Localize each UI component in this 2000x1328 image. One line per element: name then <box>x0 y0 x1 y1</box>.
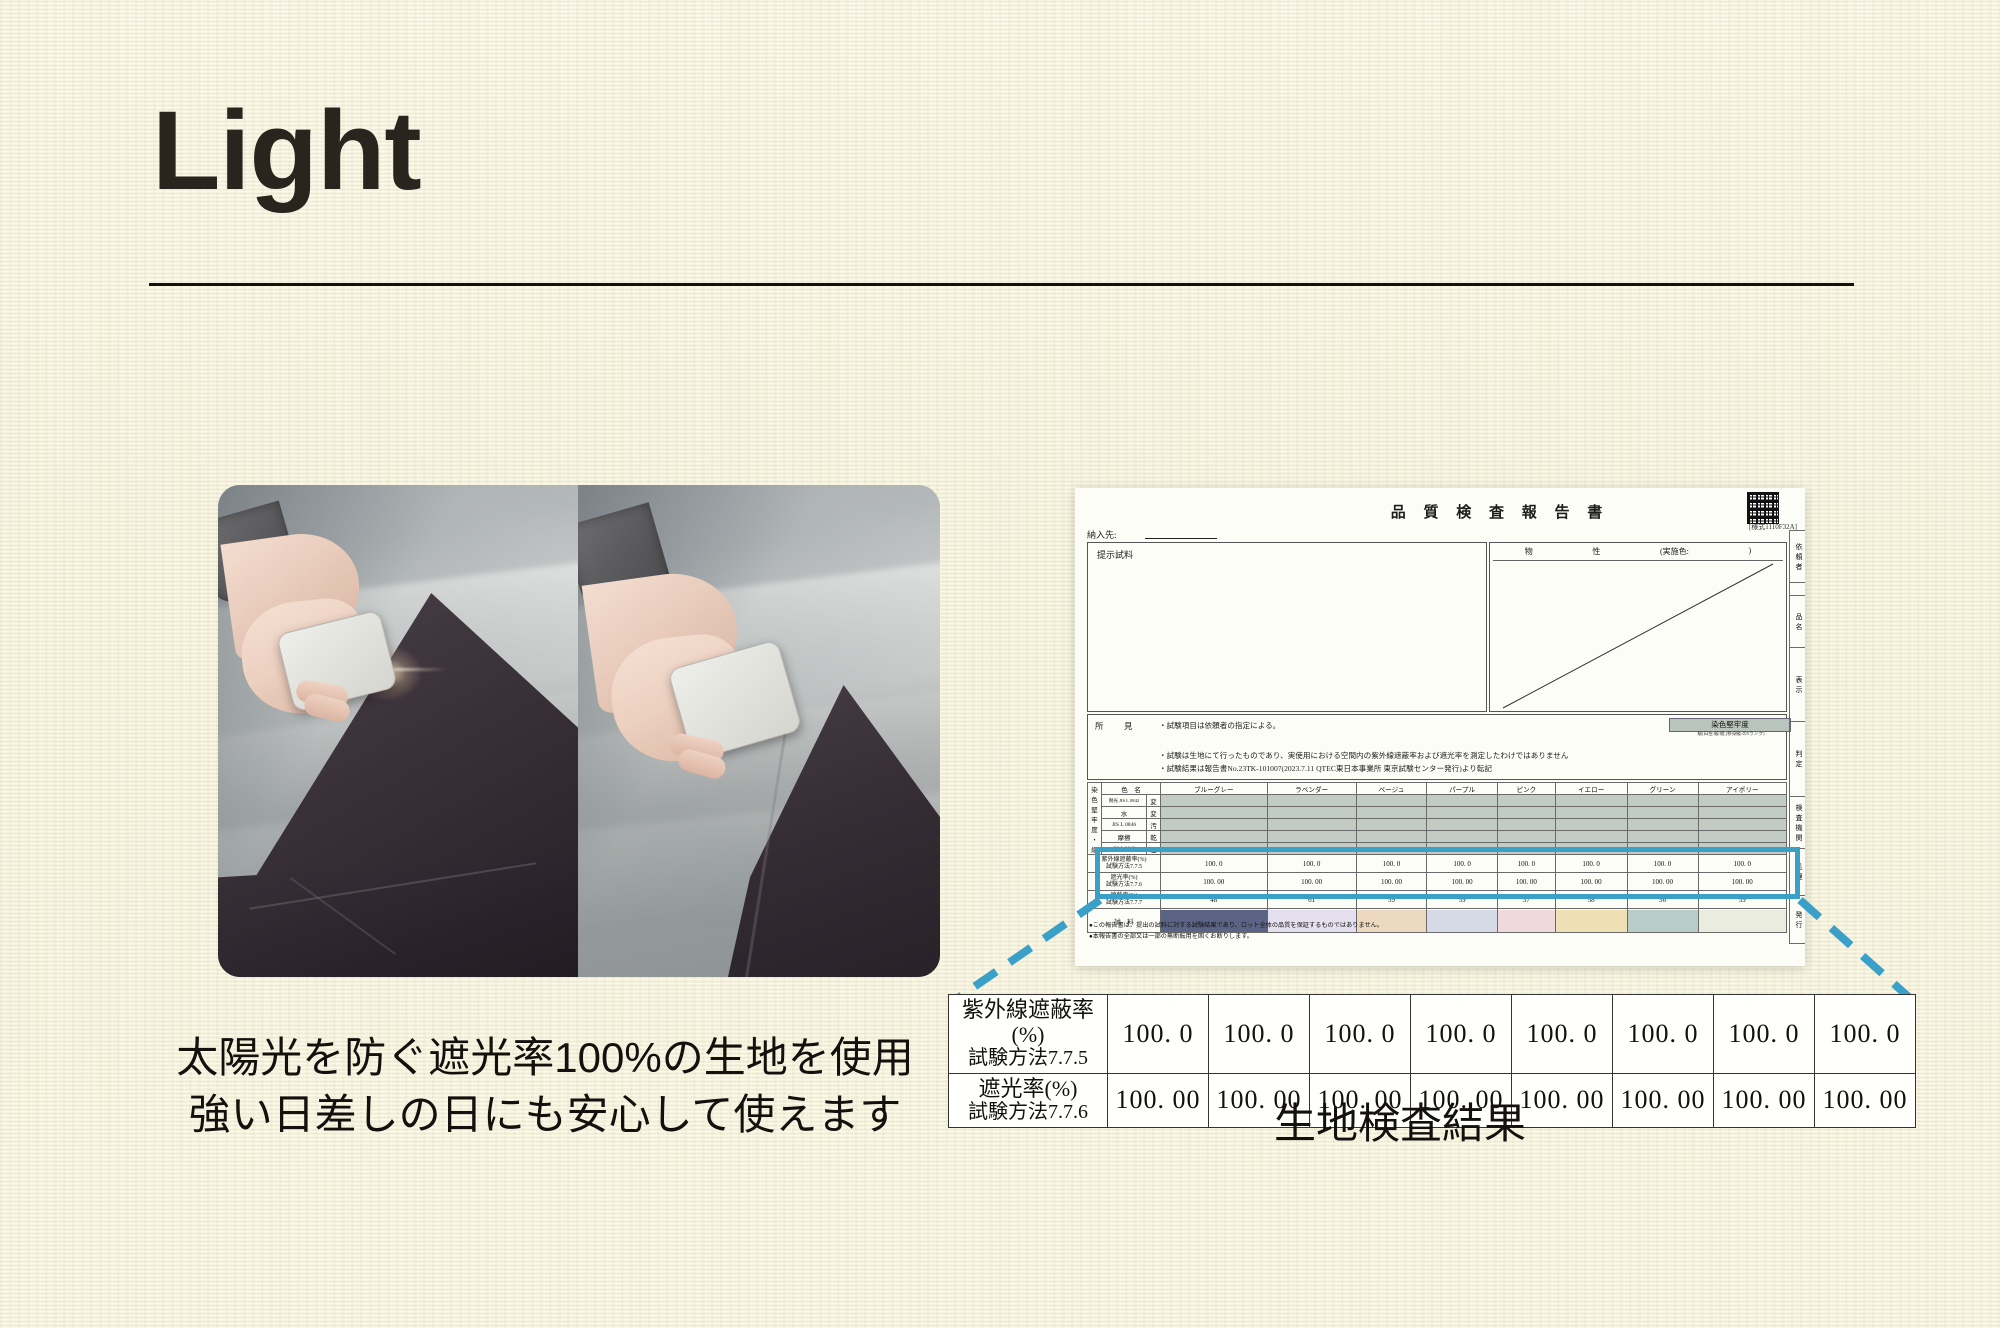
photo-right <box>578 485 940 977</box>
callout-uv-value-0: 100. 0 <box>1108 995 1209 1074</box>
info-row-contact: 担当者 草野 <box>1790 583 1806 596</box>
callout-row-uv: 紫外線遮蔽率(%) 試験方法7.7.5 100. 0 100. 0 100. 0… <box>949 995 1916 1074</box>
fastness-method-3: 摩擦 <box>1102 831 1147 843</box>
cell <box>1267 819 1356 831</box>
callout-label-shading: 遮光率(%) 試験方法7.7.6 <box>949 1073 1108 1127</box>
table-row-fastness-3: 摩擦 乾 <box>1088 831 1787 843</box>
cell <box>1161 819 1268 831</box>
report-note-0: ●この報告書は、提出の試料に対する試験結果であり、ロット全体の品質を保証するもの… <box>1089 920 1383 929</box>
cell <box>1161 807 1268 819</box>
callout-label-shading-line1: 遮光率(%) <box>953 1077 1103 1102</box>
color-header-7: アイボリー <box>1698 783 1786 795</box>
property-headers: 物 性 (実施色: ) <box>1495 546 1781 557</box>
requester-contact-spacer <box>1790 583 1806 596</box>
labeling-section-label: 表示 <box>1790 648 1806 722</box>
fastness-kind-1: 変 <box>1147 807 1161 819</box>
cell <box>1498 819 1556 831</box>
swatch-fill-6 <box>1628 910 1698 932</box>
report-note-1: ●本報告書の全部又は一部の無断転用を固くお断りします。 <box>1089 931 1253 940</box>
report-title: 品 質 検 査 報 告 書 <box>1375 501 1625 522</box>
fastness-kind-3: 乾 <box>1147 831 1161 843</box>
table-row-colnames: 染色堅牢度・級 色 名 ブルーグレー ラベンダー ベージュ パープル ピンク イ… <box>1088 783 1787 795</box>
color-header-5: イエロー <box>1555 783 1627 795</box>
table-row-fastness-0: 耐光 JIS L 0842 変 <box>1088 795 1787 807</box>
fastness-section-label: 染色堅牢度・級 <box>1088 783 1102 855</box>
caption-left-line1: 太陽光を防ぐ遮光率100%の生地を使用 <box>150 1030 940 1087</box>
cell <box>1161 795 1268 807</box>
swatch-fill-4 <box>1498 910 1555 932</box>
swatch-fill-3 <box>1427 910 1497 932</box>
table-row-fastness-1: 水 変 <box>1088 807 1787 819</box>
requester-section-label: 依頼者 <box>1790 531 1806 583</box>
cell <box>1627 819 1698 831</box>
swatch-4 <box>1498 909 1556 933</box>
title-divider <box>149 283 1854 286</box>
property-header-1: 性 <box>1592 546 1600 557</box>
judgement-section-label: 判定 <box>1790 722 1806 797</box>
color-header-6: グリーン <box>1627 783 1698 795</box>
cell <box>1356 819 1426 831</box>
finding-line-1: ・試験は生地にて行ったものであり、実使用における空間内の紫外線遮蔽率および遮光率… <box>1159 750 1568 761</box>
property-header-rule <box>1493 560 1783 561</box>
qr-code-icon <box>1747 492 1779 524</box>
slide-canvas: Light <box>0 0 2000 1328</box>
cell <box>1698 795 1786 807</box>
fastness-kind-2: 汚 <box>1147 819 1161 831</box>
callout-uv-value-5: 100. 0 <box>1613 995 1714 1074</box>
info-row-standard: 判定 適用規格 JUPA基準 傘 <box>1790 722 1806 745</box>
testing-org-section-label: 検査機関 <box>1790 797 1806 849</box>
cell <box>1356 795 1426 807</box>
product-section-label: 品名 <box>1790 596 1806 648</box>
product-photo-group <box>218 485 940 977</box>
callout-label-uv: 紫外線遮蔽率(%) 試験方法7.7.5 <box>949 995 1108 1074</box>
caption-right: 生地検査結果 <box>1180 1090 1620 1151</box>
cell <box>1427 819 1498 831</box>
color-header-3: パープル <box>1427 783 1498 795</box>
cell <box>1498 795 1556 807</box>
info-row-label-0: 表示 生地の組成 <box>1790 648 1806 661</box>
color-header-4: ピンク <box>1498 783 1556 795</box>
source-rows-highlight <box>1095 847 1800 899</box>
color-header-0: ブルーグレー <box>1161 783 1268 795</box>
cell <box>1267 807 1356 819</box>
cell <box>1498 831 1556 843</box>
cell <box>1555 819 1627 831</box>
table-row-fastness-2: JIS L 0846 汚 <box>1088 819 1787 831</box>
issue-section-label: 発行 <box>1790 896 1806 944</box>
swatch-7 <box>1698 909 1786 933</box>
callout-uv-value-7: 100. 0 <box>1815 995 1916 1074</box>
cell <box>1698 819 1786 831</box>
swatch-5 <box>1555 909 1627 933</box>
cell <box>1698 831 1786 843</box>
callout-uv-value-6: 100. 0 <box>1714 995 1815 1074</box>
property-header-3: ) <box>1749 546 1752 557</box>
callout-uv-value-2: 100. 0 <box>1310 995 1411 1074</box>
property-header-2: (実施色: <box>1660 546 1689 557</box>
fastness-kind-0: 変 <box>1147 795 1161 807</box>
property-box <box>1489 542 1787 712</box>
cell <box>1698 807 1786 819</box>
cell <box>1356 807 1426 819</box>
deliver-to-label: 納入先: <box>1087 528 1117 541</box>
cell <box>1161 831 1268 843</box>
photo-left <box>218 485 578 977</box>
sample-label: 提示試料 <box>1097 548 1133 561</box>
swatch-fill-5 <box>1556 910 1627 932</box>
fastness-badge: 染色堅牢度 <box>1669 718 1791 732</box>
callout-shading-value-5: 100. 00 <box>1613 1073 1714 1127</box>
page-title: Light <box>152 95 421 207</box>
swatch-6 <box>1627 909 1698 933</box>
color-header-2: ベージュ <box>1356 783 1426 795</box>
heat-row-method: 試験方法7.7.7 <box>1106 900 1142 906</box>
callout-uv-value-4: 100. 0 <box>1512 995 1613 1074</box>
cell <box>1356 831 1426 843</box>
finding-line-0: ・試験項目は依頼者の指定による。 <box>1159 720 1280 731</box>
cell <box>1427 795 1498 807</box>
finding-line-2: ・試験結果は報告書No.23TK-101007(2023.7.11 QTEC東日… <box>1159 763 1492 774</box>
cell <box>1267 831 1356 843</box>
cell <box>1267 795 1356 807</box>
sample-box <box>1087 542 1487 712</box>
fastness-method-2: JIS L 0846 <box>1102 819 1147 831</box>
fastness-method-1: 水 <box>1102 807 1147 819</box>
callout-shading-value-7: 100. 00 <box>1815 1073 1916 1127</box>
cell <box>1627 795 1698 807</box>
cell <box>1555 831 1627 843</box>
callout-shading-value-6: 100. 00 <box>1714 1073 1815 1127</box>
cell <box>1427 807 1498 819</box>
cell <box>1427 831 1498 843</box>
fastness-method-0: 耐光 JIS L 0842 <box>1102 795 1147 807</box>
info-row-company: 依頼者 会社名 株式会社アセント <box>1790 531 1806 544</box>
callout-label-shading-line2: 試験方法7.7.6 <box>953 1101 1103 1123</box>
property-header-0: 物 <box>1525 546 1533 557</box>
cell <box>1498 807 1556 819</box>
cell <box>1627 807 1698 819</box>
swatch-3 <box>1427 909 1498 933</box>
findings-label: 所 見 <box>1095 720 1139 732</box>
callout-label-uv-line1: 紫外線遮蔽率(%) <box>953 998 1103 1047</box>
color-name-header: 色 名 <box>1102 783 1161 795</box>
callout-label-uv-line2: 試験方法7.7.5 <box>953 1047 1103 1069</box>
cell <box>1555 807 1627 819</box>
fastness-note: 級(白左:級/組,(移染級:の5ランク) <box>1671 731 1791 737</box>
callout-uv-value-1: 100. 0 <box>1209 995 1310 1074</box>
info-row-type: 品名 種 別 傘 <box>1790 596 1806 609</box>
cell <box>1555 795 1627 807</box>
cell <box>1627 831 1698 843</box>
swatch-fill-7 <box>1699 910 1786 932</box>
info-row-testing-org: 検査機関 Q 一般財団法人(キューテック) 日本繊維製品品質技術センター 東日本… <box>1790 797 1806 849</box>
caption-left: 太陽光を防ぐ遮光率100%の生地を使用 強い日差しの日にも安心して使えます <box>150 1030 940 1143</box>
color-header-1: ラベンダー <box>1267 783 1356 795</box>
caption-left-line2: 強い日差しの日にも安心して使えます <box>150 1087 940 1144</box>
callout-uv-value-3: 100. 0 <box>1411 995 1512 1074</box>
deliver-to-rule <box>1145 538 1217 539</box>
